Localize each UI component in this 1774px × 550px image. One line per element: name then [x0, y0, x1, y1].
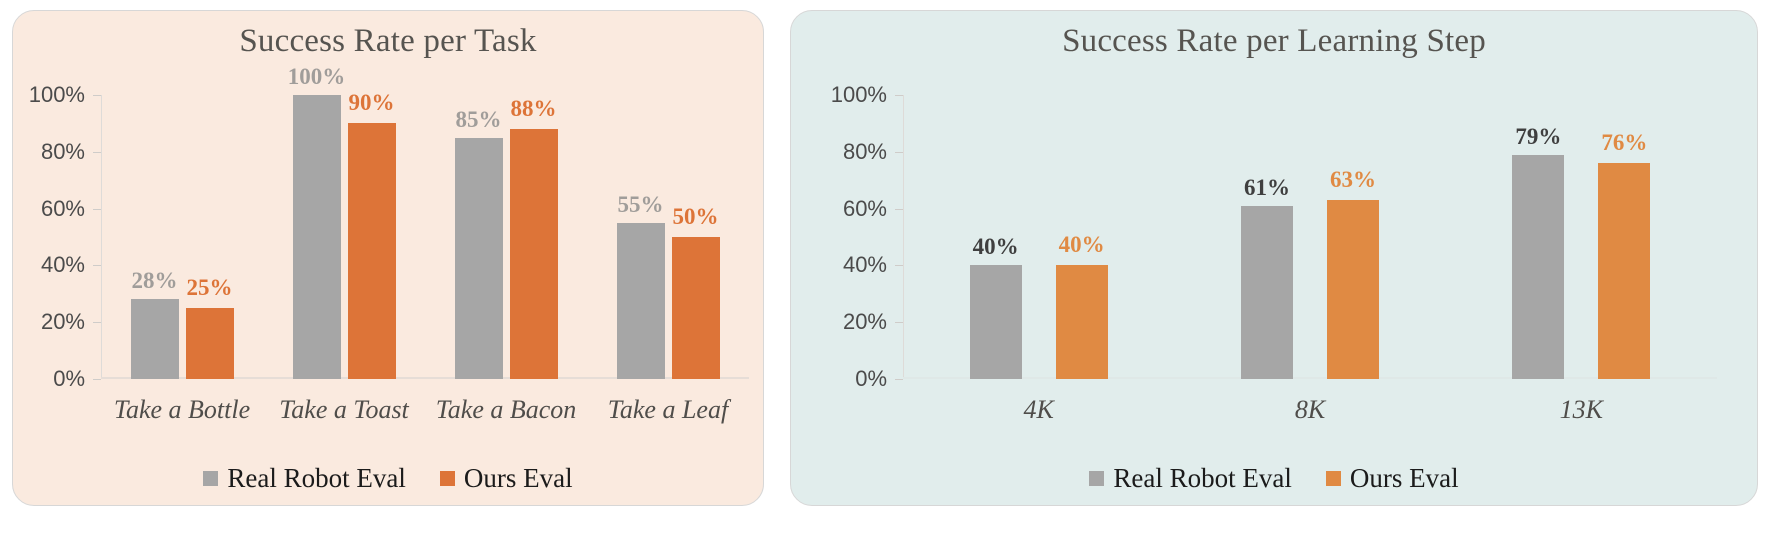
x-axis-category-label: Take a Bottle — [114, 395, 250, 425]
bar-value-label: 40% — [973, 235, 1019, 258]
bar-column[interactable]: 88% — [510, 95, 558, 379]
y-axis-tick — [895, 152, 903, 153]
bar-column[interactable]: 85% — [455, 95, 503, 379]
legend-item[interactable]: Real Robot Eval — [203, 463, 405, 494]
chart-legend: Real Robot EvalOurs Eval — [791, 463, 1757, 494]
bar[interactable] — [1512, 155, 1564, 379]
legend-swatch-icon — [203, 471, 218, 486]
x-axis-category-label: 8K — [1295, 395, 1325, 425]
legend-label: Ours Eval — [464, 463, 573, 494]
y-axis-tick-label: 60% — [843, 196, 887, 222]
legend-label: Ours Eval — [1350, 463, 1459, 494]
bar[interactable] — [455, 138, 503, 379]
bar-column[interactable]: 76% — [1598, 95, 1650, 379]
bar[interactable] — [293, 95, 341, 379]
bar-column[interactable]: 40% — [970, 95, 1022, 379]
bar-column[interactable]: 90% — [348, 95, 396, 379]
y-axis-tick-label: 40% — [843, 252, 887, 278]
bar-column[interactable]: 61% — [1241, 95, 1293, 379]
y-axis-tick-label: 60% — [41, 196, 85, 222]
y-axis-tick — [895, 95, 903, 96]
bar[interactable] — [1598, 163, 1650, 379]
legend-item[interactable]: Ours Eval — [1326, 463, 1459, 494]
legend-item[interactable]: Real Robot Eval — [1089, 463, 1291, 494]
y-axis-tick — [93, 265, 101, 266]
y-axis-tick — [93, 322, 101, 323]
bar-column[interactable]: 55% — [617, 95, 665, 379]
bar[interactable] — [1056, 265, 1108, 379]
y-axis-tick-label: 20% — [41, 309, 85, 335]
bar-column[interactable]: 25% — [186, 95, 234, 379]
x-axis-category-label: 4K — [1023, 395, 1053, 425]
bar-value-label: 100% — [288, 65, 346, 88]
y-axis-tick — [895, 379, 903, 380]
x-axis-category-label: 13K — [1560, 395, 1603, 425]
bar[interactable] — [510, 129, 558, 379]
y-axis-tick-label: 0% — [855, 366, 887, 392]
bar-group: 79%76%13K — [1446, 95, 1717, 379]
bar-value-label: 25% — [187, 276, 233, 299]
bar-column[interactable]: 100% — [293, 95, 341, 379]
bar-value-label: 88% — [511, 97, 557, 120]
bar-value-label: 28% — [132, 269, 178, 292]
y-axis-tick — [93, 95, 101, 96]
bar[interactable] — [617, 223, 665, 379]
y-axis-tick-label: 100% — [29, 82, 85, 108]
chart-title: Success Rate per Learning Step — [791, 23, 1757, 60]
y-axis-tick-label: 20% — [843, 309, 887, 335]
x-axis-category-label: Take a Bacon — [436, 395, 577, 425]
y-axis-tick-label: 80% — [843, 139, 887, 165]
bar-value-label: 85% — [456, 108, 502, 131]
bar[interactable] — [1327, 200, 1379, 379]
bar[interactable] — [672, 237, 720, 379]
plot-area: 0%20%40%60%80%100% 28%25%Take a Bottle10… — [101, 95, 749, 379]
bar-value-label: 76% — [1601, 131, 1647, 154]
bar[interactable] — [1241, 206, 1293, 379]
y-axis-tick — [895, 322, 903, 323]
plot-area: 0%20%40%60%80%100% 40%40%4K61%63%8K79%76… — [903, 95, 1717, 379]
legend-label: Real Robot Eval — [227, 463, 405, 494]
chart-title: Success Rate per Task — [13, 23, 763, 60]
bar-group: 100%90%Take a Toast — [263, 95, 425, 379]
y-axis-tick — [895, 265, 903, 266]
y-axis-tick — [93, 152, 101, 153]
bar[interactable] — [186, 308, 234, 379]
x-axis-category-label: Take a Toast — [279, 395, 409, 425]
legend-swatch-icon — [1089, 471, 1104, 486]
chart-panel-success-rate-per-learning-step: Success Rate per Learning Step 0%20%40%6… — [790, 10, 1758, 506]
figure-root: Success Rate per Task 0%20%40%60%80%100%… — [0, 0, 1774, 550]
bar-column[interactable]: 79% — [1512, 95, 1564, 379]
bar-group: 55%50%Take a Leaf — [587, 95, 749, 379]
bar[interactable] — [348, 123, 396, 379]
chart-legend: Real Robot EvalOurs Eval — [13, 463, 763, 494]
bar-column[interactable]: 50% — [672, 95, 720, 379]
bar-value-label: 50% — [673, 205, 719, 228]
bar-group: 85%88%Take a Bacon — [425, 95, 587, 379]
legend-label: Real Robot Eval — [1113, 463, 1291, 494]
y-axis-tick-label: 40% — [41, 252, 85, 278]
bar-value-label: 79% — [1515, 125, 1561, 148]
x-axis-category-label: Take a Leaf — [608, 395, 728, 425]
bar-value-label: 63% — [1330, 168, 1376, 191]
y-axis-tick — [93, 379, 101, 380]
bar-value-label: 40% — [1059, 233, 1105, 256]
bar-group: 28%25%Take a Bottle — [101, 95, 263, 379]
legend-item[interactable]: Ours Eval — [440, 463, 573, 494]
bar-value-label: 90% — [349, 91, 395, 114]
bar-column[interactable]: 63% — [1327, 95, 1379, 379]
y-axis-tick-label: 0% — [53, 366, 85, 392]
bar-value-label: 55% — [618, 193, 664, 216]
y-axis-tick — [93, 209, 101, 210]
legend-swatch-icon — [440, 471, 455, 486]
y-axis-tick-label: 80% — [41, 139, 85, 165]
bar-value-label: 61% — [1244, 176, 1290, 199]
y-axis-tick — [895, 209, 903, 210]
bar-group: 61%63%8K — [1174, 95, 1445, 379]
bar-column[interactable]: 40% — [1056, 95, 1108, 379]
chart-panel-success-rate-per-task: Success Rate per Task 0%20%40%60%80%100%… — [12, 10, 764, 506]
legend-swatch-icon — [1326, 471, 1341, 486]
bar-column[interactable]: 28% — [131, 95, 179, 379]
bar[interactable] — [131, 299, 179, 379]
bar-group: 40%40%4K — [903, 95, 1174, 379]
bar[interactable] — [970, 265, 1022, 379]
y-axis-tick-label: 100% — [831, 82, 887, 108]
